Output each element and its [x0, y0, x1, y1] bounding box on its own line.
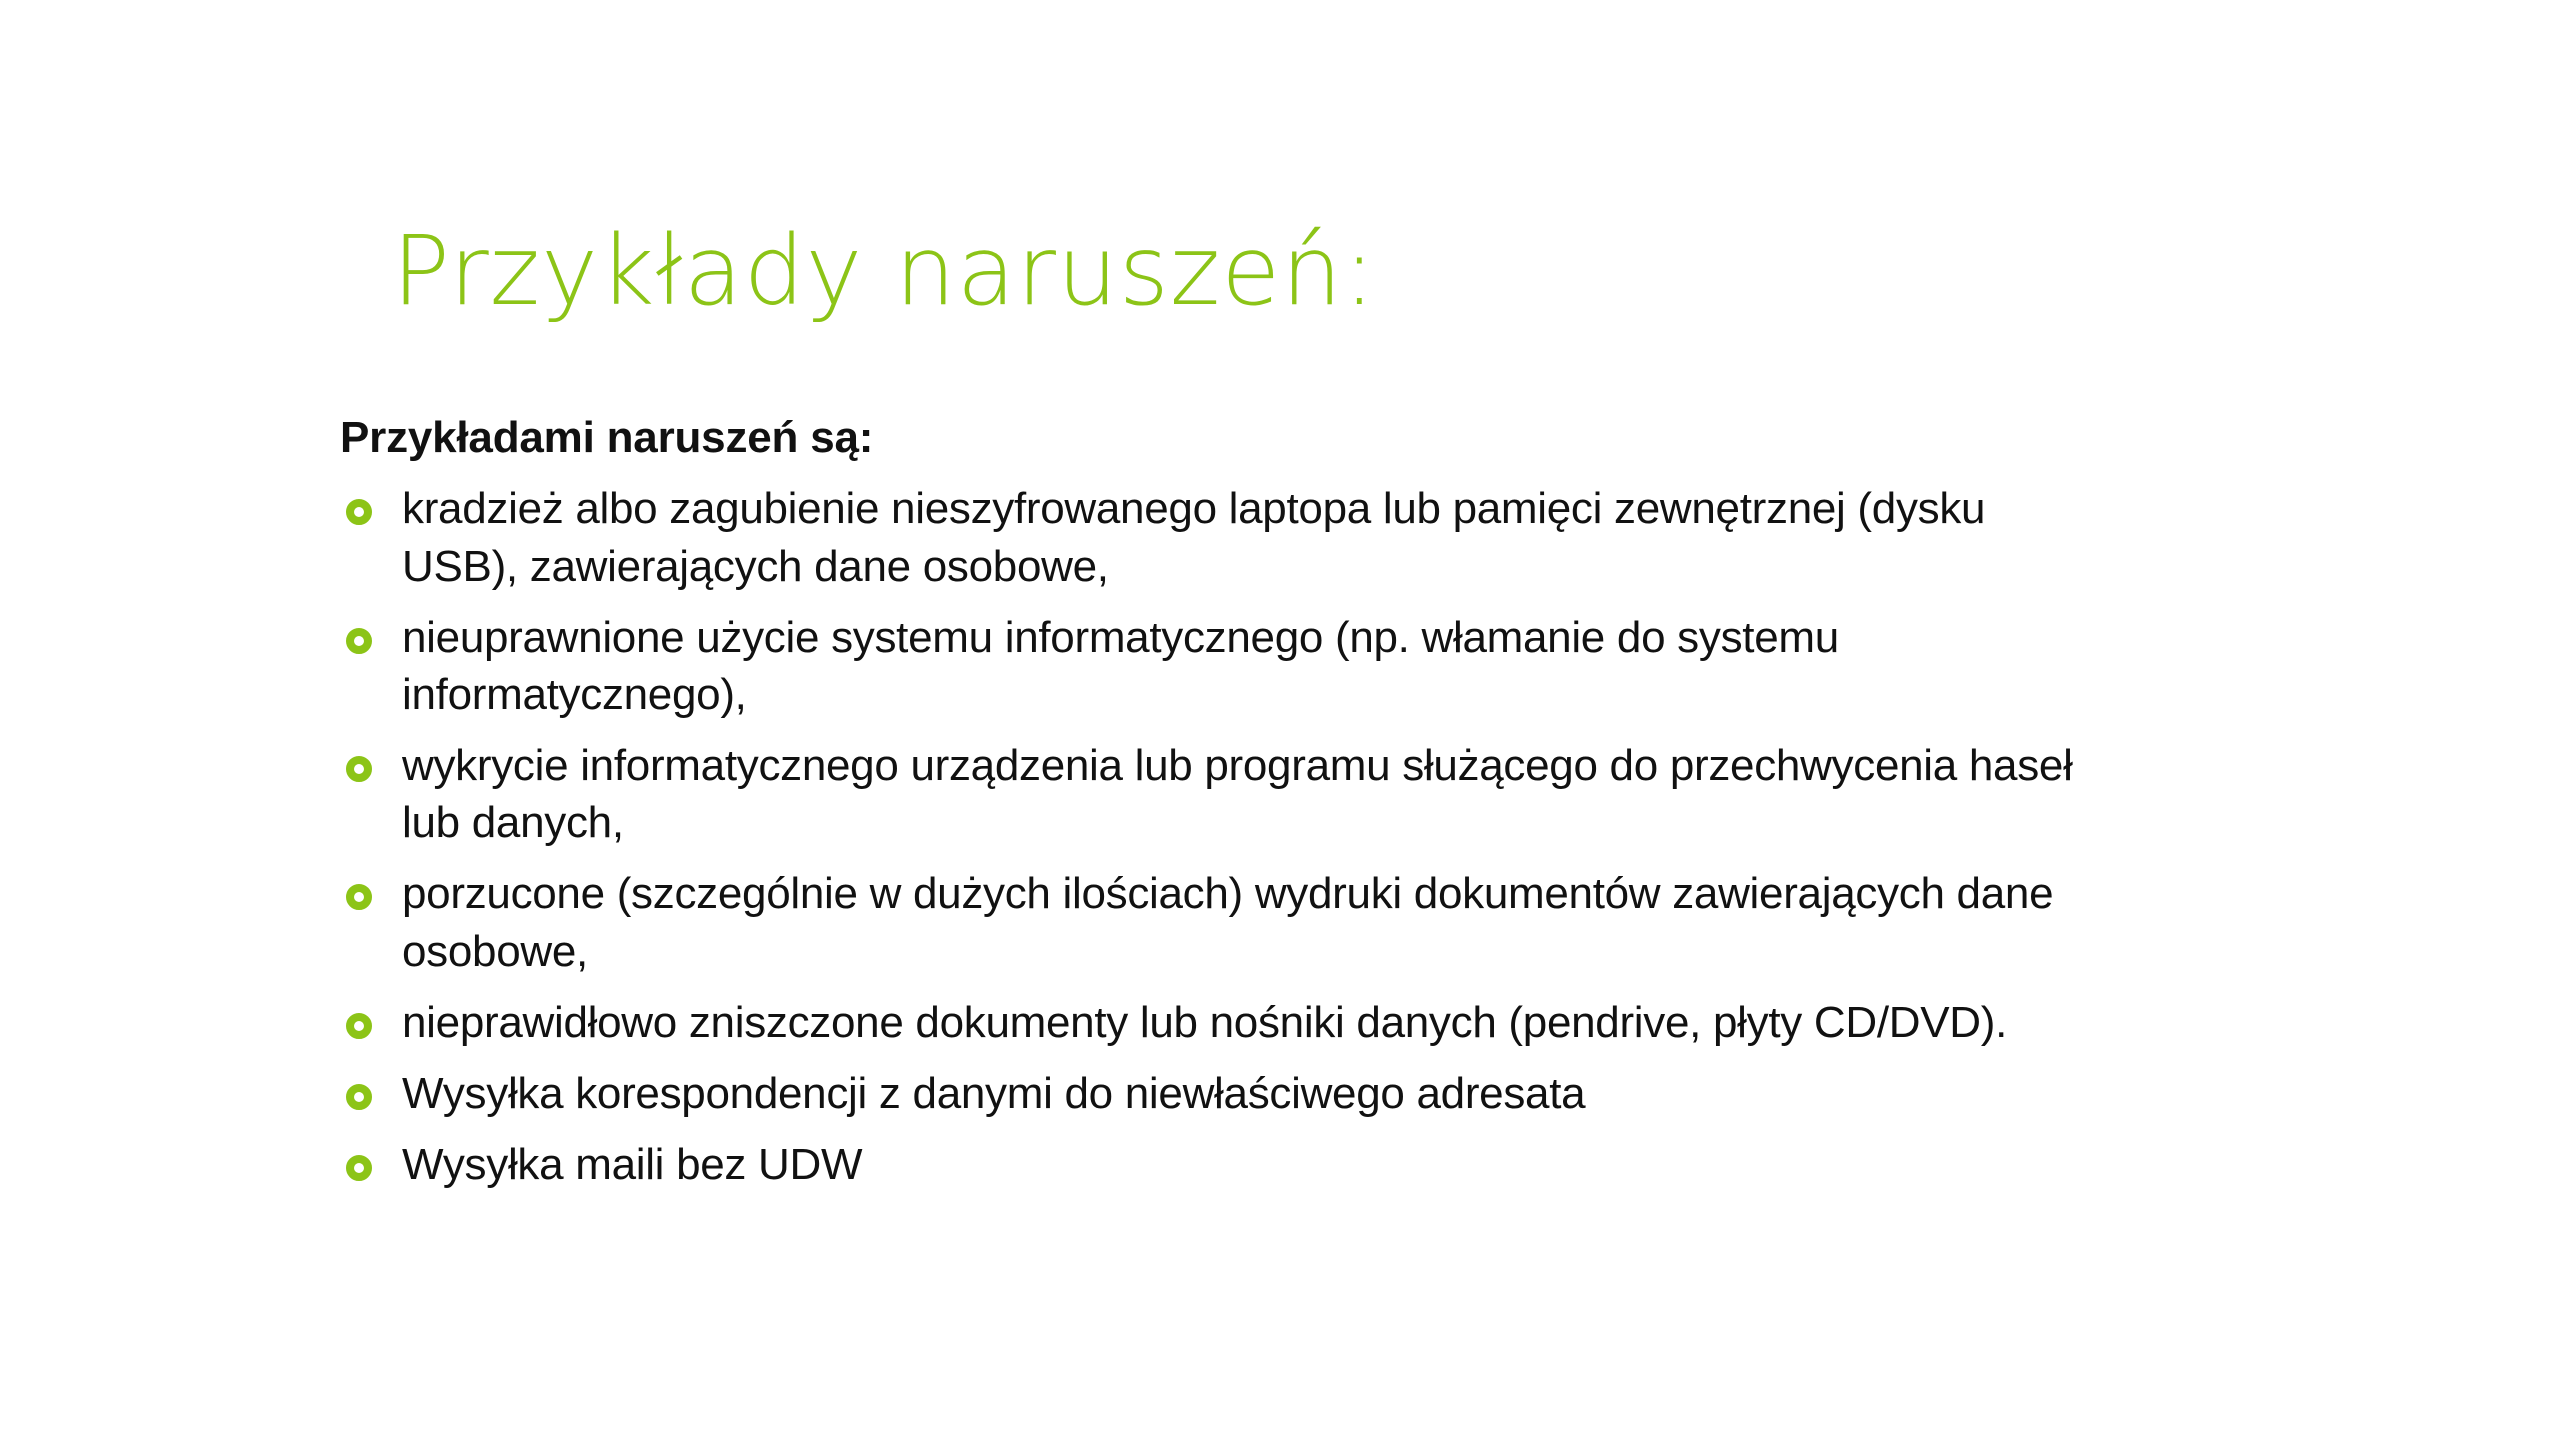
list-item: porzucone (szczególnie w dużych ilościac…	[340, 865, 2400, 979]
green-ring-bullet-icon	[346, 1155, 372, 1181]
list-item: kradzież albo zagubienie nieszyfrowanego…	[340, 480, 2400, 594]
list-item: nieuprawnione użycie systemu informatycz…	[340, 609, 2400, 723]
list-item-label: nieuprawnione użycie systemu informatycz…	[402, 609, 2012, 723]
slide-body: Przykładami naruszeń są: kradzież albo z…	[340, 410, 2400, 1193]
list-item-label: wykrycie informatycznego urządzenia lub …	[402, 737, 2132, 851]
list-item: Wysyłka korespondencji z danymi do niewł…	[340, 1065, 2400, 1122]
green-ring-bullet-icon	[346, 756, 372, 782]
violations-bullet-list: kradzież albo zagubienie nieszyfrowanego…	[340, 480, 2400, 1193]
list-item-label: porzucone (szczególnie w dużych ilościac…	[402, 865, 2202, 979]
list-item-label: nieprawidłowo zniszczone dokumenty lub n…	[402, 994, 2382, 1051]
list-item-label: kradzież albo zagubienie nieszyfrowanego…	[402, 480, 2112, 594]
list-item: wykrycie informatycznego urządzenia lub …	[340, 737, 2400, 851]
list-item: Wysyłka maili bez UDW	[340, 1136, 2400, 1193]
list-item-label: Wysyłka maili bez UDW	[402, 1136, 2382, 1193]
list-item-label: Wysyłka korespondencji z danymi do niewł…	[402, 1065, 2382, 1122]
green-ring-bullet-icon	[346, 1084, 372, 1110]
green-ring-bullet-icon	[346, 1013, 372, 1039]
presentation-slide: Przykłady naruszeń: Przykładami naruszeń…	[0, 0, 2560, 1440]
intro-heading: Przykładami naruszeń są:	[340, 410, 2400, 466]
green-ring-bullet-icon	[346, 628, 372, 654]
page-title: Przykłady naruszeń:	[392, 219, 2192, 325]
green-ring-bullet-icon	[346, 499, 372, 525]
green-ring-bullet-icon	[346, 884, 372, 910]
list-item: nieprawidłowo zniszczone dokumenty lub n…	[340, 994, 2400, 1051]
